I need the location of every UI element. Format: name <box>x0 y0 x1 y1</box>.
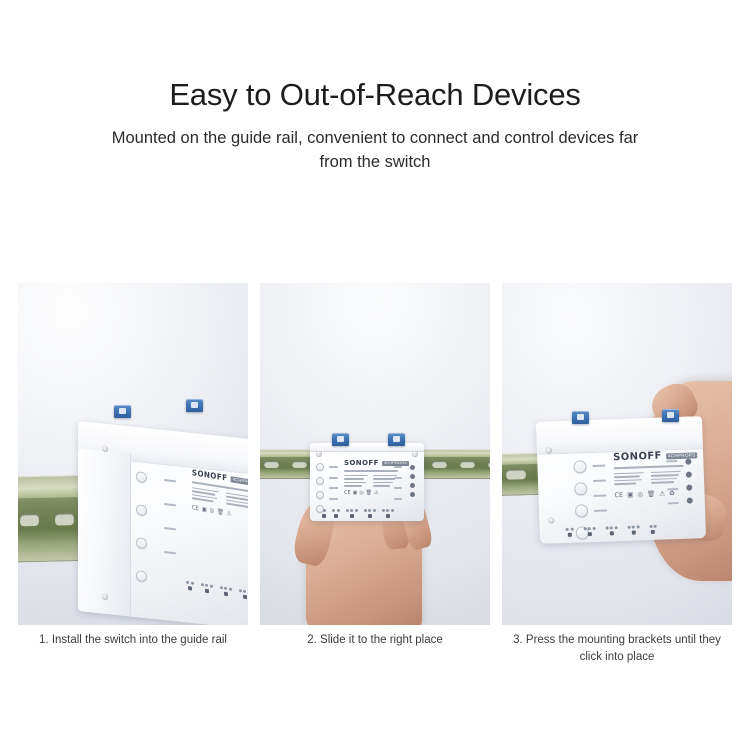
device-tick-column <box>592 465 607 512</box>
device-terminal-mark <box>337 509 340 512</box>
device-spec-column <box>614 472 644 485</box>
device-led-column <box>410 465 415 497</box>
device-terminal-row <box>566 525 657 537</box>
fcc-mark-icon: ▣ <box>627 491 633 498</box>
device-model-badge: 4CHPROR3 <box>231 476 248 487</box>
device-channel-tick <box>329 498 338 500</box>
device-terminal-group <box>605 526 617 535</box>
device-certification-row: CE ▣ ◎ 🗑 ⚠ <box>192 505 248 522</box>
device-terminal-group <box>566 528 574 537</box>
device-channel-tick <box>593 480 606 482</box>
device-terminal-group <box>364 509 376 518</box>
device-status-led <box>687 498 693 504</box>
warning-triangle-icon: ⚠ <box>374 491 378 496</box>
device-terminal-group <box>201 583 213 594</box>
din-rail-hole <box>292 461 307 468</box>
device-terminal-mark <box>566 528 569 531</box>
device-terminal-mark <box>614 526 617 529</box>
step-2-photo: SONOFF 4CHPROR3 <box>260 283 490 625</box>
device-terminal-mark <box>243 590 246 593</box>
device-terminal-mark <box>346 509 349 512</box>
device-spec-column <box>192 487 219 503</box>
mounting-clip <box>114 405 131 418</box>
device-channel-button <box>136 504 147 516</box>
device-terminal-slot <box>350 514 354 518</box>
device-channel-tick <box>594 510 607 512</box>
mounting-clip <box>332 433 349 446</box>
device-terminal-slot <box>587 532 591 536</box>
device-channel-button <box>136 537 147 549</box>
device-spec-line <box>344 475 368 477</box>
device-status-led <box>410 492 415 497</box>
rohs-mark-icon: ◎ <box>359 491 363 496</box>
sonoff-switch-device: SONOFF 4CHPROR3 <box>310 443 424 521</box>
device-terminal-mark <box>191 581 194 584</box>
device-label: SONOFF 4CHPROR3 <box>192 469 248 522</box>
device-button-column <box>136 471 147 582</box>
sonoff-switch-device: SONOFF 4CHPROR3 <box>78 421 248 625</box>
device-terminal-mark <box>210 584 213 587</box>
device-terminal-marks <box>332 509 340 512</box>
device-terminal-mark <box>632 526 635 529</box>
device-screw <box>102 446 108 453</box>
rohs-mark-icon: ◎ <box>210 507 215 514</box>
device-channel-tick <box>394 477 402 479</box>
device-terminal-mark <box>649 525 652 528</box>
device-terminal-mark <box>323 509 326 512</box>
device-terminal-slot <box>243 595 247 600</box>
device-terminal-mark <box>364 509 367 512</box>
device-status-led <box>686 485 692 491</box>
step-1-photo: SONOFF 4CHPROR3 <box>18 283 248 625</box>
device-brand-logo: SONOFF <box>344 460 379 467</box>
device-status-led <box>410 465 415 470</box>
device-terminal-mark <box>627 526 630 529</box>
device-channel-button <box>316 477 324 485</box>
device-channel-tick <box>329 477 338 479</box>
device-spec-block <box>614 470 692 485</box>
device-tick-column-right <box>666 460 679 504</box>
weee-bin-icon: 🗑 <box>217 509 224 516</box>
device-spec-line <box>344 478 364 480</box>
step-3-photo: SONOFF 4CHPROR3 <box>502 283 732 625</box>
din-rail-hole <box>55 513 74 525</box>
device-channel-button <box>573 460 586 473</box>
device-model-badge: 4CHPROR3 <box>666 452 698 460</box>
device-terminal-mark <box>201 583 204 586</box>
device-terminal-row <box>322 509 394 518</box>
device-terminal-mark <box>350 509 353 512</box>
din-rail-hole <box>488 461 490 468</box>
device-terminal-marks <box>186 581 194 585</box>
device-terminal-group <box>583 527 595 536</box>
device-channel-tick <box>394 466 402 468</box>
device-terminal-mark <box>636 525 639 528</box>
device-brand-logo: SONOFF <box>613 452 662 464</box>
device-terminal-marks <box>364 509 376 512</box>
device-spec-line <box>344 470 398 472</box>
device-channel-button <box>574 482 587 495</box>
din-rail-hole <box>506 470 526 480</box>
device-channel-tick <box>594 495 607 497</box>
device-terminal-mark <box>386 509 389 512</box>
mounting-clip <box>572 411 589 424</box>
device-channel-tick <box>667 474 678 476</box>
device-channel-tick <box>164 551 176 554</box>
device-terminal-mark <box>186 581 189 584</box>
device-terminal-marks <box>627 525 639 528</box>
device-terminal-mark <box>355 509 358 512</box>
device-terminal-slot <box>334 514 338 518</box>
device-terminal-mark <box>368 509 371 512</box>
fcc-mark-icon: ▣ <box>353 491 358 496</box>
warning-triangle-icon: ⚠ <box>659 490 665 497</box>
device-terminal-mark <box>239 589 242 592</box>
device-terminal-group <box>382 509 394 518</box>
device-spec-column <box>344 475 368 487</box>
device-terminal-slot <box>205 589 209 594</box>
weee-bin-icon: 🗑 <box>366 491 372 496</box>
device-terminal-mark <box>570 528 573 531</box>
device-terminal-group <box>346 509 358 518</box>
device-terminal-marks <box>649 525 657 528</box>
fcc-mark-icon: ▣ <box>202 506 207 513</box>
device-channel-tick <box>592 465 605 467</box>
device-terminal-mark <box>583 527 586 530</box>
device-spec-line <box>614 472 644 475</box>
device-terminal-mark <box>224 587 227 590</box>
device-spec-line <box>614 475 640 477</box>
device-terminal-group <box>332 509 340 518</box>
device-certification-row: CE ▣ ◎ 🗑 ⚠ ♻ <box>614 489 692 498</box>
device-channel-tick <box>164 479 176 482</box>
device-led-column <box>685 459 693 504</box>
weee-bin-icon: 🗑 <box>647 490 655 497</box>
device-terminal-mark <box>220 586 223 589</box>
device-terminal-slot <box>224 592 228 597</box>
sonoff-switch-device: SONOFF 4CHPROR3 <box>536 416 706 544</box>
din-rail-hole <box>264 461 279 468</box>
page-title: Easy to Out-of-Reach Devices <box>0 0 750 112</box>
ce-mark-icon: CE <box>192 505 199 512</box>
device-spec-line <box>373 478 395 480</box>
device-label: SONOFF 4CHPROR3 <box>613 451 693 499</box>
step-1-caption: 1. Install the switch into the guide rai… <box>18 632 248 692</box>
device-tick-column-right <box>394 466 402 500</box>
din-rail-hole <box>432 461 447 468</box>
device-terminal-group <box>322 509 326 518</box>
device-channel-tick <box>668 502 679 504</box>
device-terminal-mark <box>592 527 595 530</box>
din-rail-hole <box>460 461 475 468</box>
device-spec-column <box>226 492 248 509</box>
rohs-mark-icon: ◎ <box>637 491 643 498</box>
device-terminal-mark <box>654 525 657 528</box>
device-terminal-slot <box>386 514 390 518</box>
device-terminal-mark <box>605 526 608 529</box>
din-rail-hole <box>20 514 39 526</box>
device-terminal-marks <box>605 526 617 529</box>
device-terminal-group <box>186 581 194 591</box>
device-terminal-group <box>649 525 657 534</box>
device-spec-line <box>614 482 636 484</box>
ce-mark-icon: CE <box>614 491 623 498</box>
device-screw <box>102 594 108 601</box>
page-subtitle: Mounted on the guide rail, convenient to… <box>105 112 645 174</box>
device-terminal-mark <box>382 509 385 512</box>
page-header: Easy to Out-of-Reach Devices Mounted on … <box>0 0 750 174</box>
device-status-led <box>686 472 692 478</box>
device-channel-tick <box>666 460 677 462</box>
device-terminal-group <box>627 525 639 534</box>
device-terminal-slot <box>188 586 192 591</box>
step-3-caption: 3. Press the mounting brackets until the… <box>502 632 732 692</box>
device-status-led <box>410 483 415 488</box>
device-terminal-row <box>186 581 248 600</box>
device-terminal-mark <box>229 587 232 590</box>
device-terminal-mark <box>588 527 591 530</box>
device-channel-tick <box>329 466 338 468</box>
device-terminal-slot <box>651 530 655 534</box>
device-terminal-mark <box>610 526 613 529</box>
device-terminal-marks <box>583 527 595 530</box>
step-2-caption: 2. Slide it to the right place <box>260 632 490 692</box>
device-screw <box>548 517 554 523</box>
warning-triangle-icon: ⚠ <box>227 510 232 517</box>
device-terminal-marks <box>201 583 213 588</box>
device-status-led <box>685 459 691 465</box>
device-channel-button <box>136 471 147 483</box>
device-terminal-slot <box>368 514 372 518</box>
device-terminal-marks <box>220 586 232 591</box>
device-terminal-marks <box>323 509 326 512</box>
mounting-clip <box>388 433 405 446</box>
device-screw <box>412 451 418 457</box>
device-terminal-mark <box>205 584 208 587</box>
device-channel-tick <box>164 503 176 506</box>
device-channel-tick <box>394 487 402 489</box>
device-channel-button <box>575 504 588 517</box>
step-captions: 1. Install the switch into the guide rai… <box>18 632 732 692</box>
device-terminal-group <box>220 586 232 597</box>
device-status-led <box>410 474 415 479</box>
device-spec-line <box>373 485 390 487</box>
device-terminal-group <box>239 589 249 600</box>
device-channel-button <box>316 463 324 471</box>
device-channel-tick <box>329 487 338 489</box>
mounting-clip <box>186 399 203 412</box>
step-image-gallery: SONOFF 4CHPROR3 <box>18 283 732 625</box>
device-terminal-mark <box>332 509 335 512</box>
device-terminal-mark <box>373 509 376 512</box>
device-spec-line <box>373 482 393 484</box>
device-channel-button <box>316 491 324 499</box>
device-terminal-mark <box>248 590 249 593</box>
device-channel-tick <box>667 488 678 490</box>
device-spec-line <box>344 485 362 487</box>
device-channel-button <box>136 570 147 582</box>
device-tick-column <box>164 479 176 554</box>
device-tick-column <box>329 466 338 500</box>
ce-mark-icon: CE <box>344 491 351 496</box>
device-terminal-mark <box>391 509 394 512</box>
device-channel-tick <box>164 527 176 530</box>
device-terminal-slot <box>322 514 326 518</box>
device-terminal-marks <box>346 509 358 512</box>
device-terminal-slot <box>568 533 572 537</box>
device-side-wall <box>78 448 131 617</box>
device-screw <box>316 451 322 457</box>
mounting-clip <box>662 409 679 422</box>
device-terminal-marks <box>566 528 574 531</box>
device-button-column <box>316 463 324 513</box>
device-top-face <box>310 443 424 452</box>
device-terminal-marks <box>239 589 249 594</box>
device-terminal-slot <box>631 531 635 535</box>
device-terminal-slot <box>609 531 613 535</box>
device-spec-line <box>614 479 642 481</box>
device-spec-line <box>344 482 366 484</box>
device-terminal-marks <box>382 509 394 512</box>
device-channel-tick <box>394 498 402 500</box>
